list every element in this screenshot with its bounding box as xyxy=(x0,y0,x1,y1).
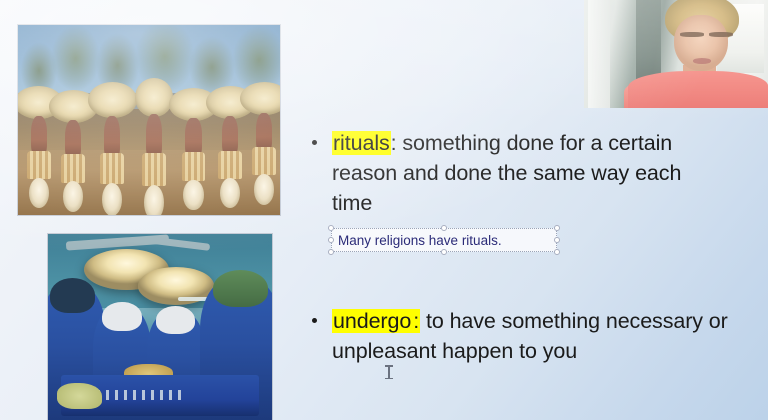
bullet-undergo-text: undergo: to have something necessary or … xyxy=(312,306,730,366)
term-undergo: undergo xyxy=(332,309,412,333)
resize-handle-middle-right[interactable] xyxy=(554,237,560,243)
term-rituals: rituals xyxy=(332,131,391,155)
bullet-dot-icon xyxy=(312,140,317,145)
presenter-shirt xyxy=(628,71,768,108)
dancer-figure xyxy=(97,82,128,211)
surgery-photo[interactable] xyxy=(48,234,272,420)
zulu-dancers-photo-content xyxy=(18,25,280,215)
bullet-rituals[interactable]: rituals: something done for a certain re… xyxy=(312,128,720,218)
resize-handle-bottom-left[interactable] xyxy=(328,249,334,255)
gloved-hand xyxy=(57,383,102,409)
zulu-dancers-photo[interactable] xyxy=(18,25,280,215)
surgical-instruments xyxy=(88,390,182,399)
presenter-eye-left xyxy=(680,32,704,36)
resize-handle-top-left[interactable] xyxy=(328,225,334,231)
presenter-mouth xyxy=(693,58,711,63)
i-beam-cursor xyxy=(385,364,393,380)
resize-handle-top-right[interactable] xyxy=(554,225,560,231)
resize-handle-bottom-center[interactable] xyxy=(441,249,447,255)
presentation-slide[interactable]: rituals: something done for a certain re… xyxy=(0,0,768,420)
term-separator: : xyxy=(412,309,420,333)
textbox-value[interactable]: Many religions have rituals. xyxy=(338,231,502,250)
webcam-doorframe xyxy=(588,0,610,108)
presenter-webcam[interactable] xyxy=(584,0,768,108)
bullet-dot-icon xyxy=(312,318,317,323)
resize-handle-middle-left[interactable] xyxy=(328,237,334,243)
dancer-figure xyxy=(139,78,170,215)
resize-handle-bottom-right[interactable] xyxy=(554,249,560,255)
dancer-figure xyxy=(178,88,209,206)
bullet-undergo[interactable]: undergo: to have something necessary or … xyxy=(312,306,730,366)
textbox-many-religions-have-rituals[interactable]: Many religions have rituals. xyxy=(331,228,557,252)
surgery-photo-content xyxy=(48,234,272,420)
dancer-figure xyxy=(249,82,280,200)
presenter-eye-right xyxy=(709,32,733,36)
dancer-figure xyxy=(57,90,88,208)
bullet-rituals-text: rituals: something done for a certain re… xyxy=(312,128,720,218)
resize-handle-top-center[interactable] xyxy=(441,225,447,231)
